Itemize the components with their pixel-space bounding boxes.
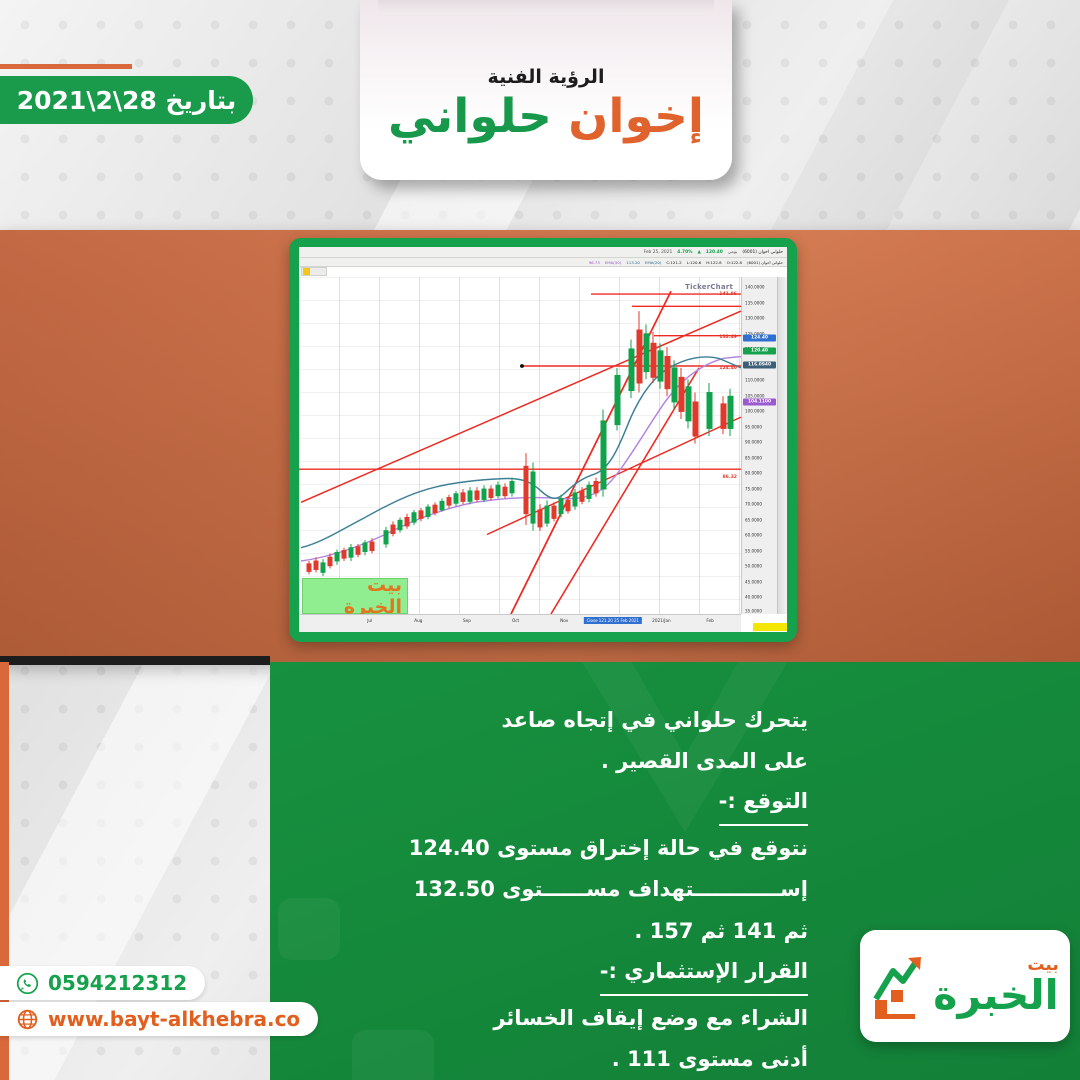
price-badge-resistance: 124.40: [743, 335, 776, 342]
y-tick-18: 50.0000: [745, 564, 762, 569]
x-tick-sep: Sep: [463, 618, 471, 623]
analysis-line-2: على المدى القصير .: [270, 741, 808, 782]
y-tick-9: 95.0000: [745, 424, 762, 429]
date-badge: بتاريخ 28\2\2021: [0, 76, 253, 124]
decision-line-1: الشراء مع وضع إيقاف الخسائر: [270, 998, 808, 1039]
y-tick-16: 60.0000: [745, 533, 762, 538]
price-badge-ema50: 104.1100: [743, 399, 776, 406]
chart-frame: حلواني اخوان (6001) يومي 120.40 ▲ 4.70% …: [289, 238, 797, 642]
x-tick-jan: 2021/Jan: [652, 618, 671, 623]
title-word-orange: إخوان: [568, 89, 704, 144]
x-tick-feb: Feb: [706, 618, 713, 623]
chart-quote-bar: حلواني اخوان (6001) يومي 120.40 ▲ 4.70% …: [299, 247, 787, 258]
website-contact-pill[interactable]: www.bayt-alkhebra.co: [0, 1002, 318, 1036]
quote-symbol: حلواني اخوان (6001): [742, 250, 783, 255]
y-tick-6: 110.0000: [745, 378, 765, 383]
decision-line-2: أدنى مستوى 111 .: [270, 1039, 808, 1080]
x-tick-nov: Nov: [560, 618, 568, 623]
decision-heading-wrap: القرار الإستثماري :-: [270, 952, 808, 998]
ema20-value: 113.20: [626, 260, 640, 265]
quote-arrow-up-icon: ▲: [698, 250, 701, 255]
whatsapp-number: 0594212312: [48, 971, 187, 995]
y-tick-10: 90.0000: [745, 440, 762, 445]
decision-heading: القرار الإستثماري :-: [600, 952, 808, 996]
time-axis-close-badge: Close 121.20 25 Feb 2021: [584, 617, 642, 624]
ema20-label: EMA(20): [645, 260, 661, 265]
price-label-86: 86.32: [722, 475, 737, 480]
x-tick-oct: Oct: [512, 618, 519, 623]
tickerchart-watermark: TickerChart: [685, 283, 733, 291]
brand-logo-card[interactable]: بيت الخبرة: [860, 930, 1070, 1042]
chart-ohlc-bar: حلواني اخوان (6001) O:122.8 H:122.8 L:12…: [299, 258, 787, 267]
chart-toolbar[interactable]: [301, 267, 327, 276]
price-badge-ema20: 116.0940: [743, 361, 776, 368]
ema50-value: 96.73: [589, 260, 600, 265]
x-tick-jul: Jul: [367, 618, 372, 623]
title-subtitle: الرؤية الفنية: [488, 66, 605, 88]
footer-dark-strip: [0, 656, 270, 665]
ohlc-open: O:122.8: [727, 260, 742, 265]
ohlc-close: C:121.2: [666, 260, 681, 265]
y-tick-17: 55.0000: [745, 548, 762, 553]
chart-vertical-scrollbar[interactable]: [777, 277, 787, 614]
y-tick-13: 75.0000: [745, 486, 762, 491]
ema50-label: EMA(50): [605, 260, 621, 265]
time-axis-highlight: [753, 623, 787, 631]
chart-price-axis[interactable]: 140.0000 135.0000 130.0000 125.0000 120.…: [741, 277, 777, 614]
forecast-line-2: إســــــــــــتهداف مســــــتوى 132.50: [270, 869, 808, 910]
y-tick-0: 140.0000: [745, 285, 765, 290]
whatsapp-icon: [16, 972, 39, 995]
quote-date: Feb 25, 2021: [644, 250, 673, 255]
ohlc-high: H:122.8: [706, 260, 721, 265]
y-tick-20: 40.0000: [745, 595, 762, 600]
y-tick-1: 135.0000: [745, 300, 765, 305]
alert-icon[interactable]: [303, 268, 310, 275]
x-tick-aug: Aug: [414, 618, 422, 623]
title-card: الرؤية الفنية إخوان حلواني: [360, 0, 732, 180]
price-label-124: 124.40: [719, 366, 737, 371]
whatsapp-contact-pill[interactable]: 0594212312: [0, 966, 205, 1000]
price-label-132: 132.49: [719, 335, 737, 340]
date-accent-rule: [0, 64, 132, 69]
y-tick-14: 70.0000: [745, 502, 762, 507]
price-label-141: 141.96: [719, 292, 737, 297]
website-url: www.bayt-alkhebra.co: [48, 1007, 300, 1031]
y-tick-8: 100.0000: [745, 409, 765, 414]
chart-time-axis[interactable]: Jul Aug Sep Oct Nov Dec 2021/Jan Feb Clo…: [299, 614, 741, 632]
logo-wordmark: بيت الخبرة: [933, 957, 1058, 1016]
page-title: إخوان حلواني: [388, 92, 704, 141]
growth-arrow-house-icon: [871, 953, 929, 1019]
quote-price: 120.40: [706, 250, 723, 255]
globe-icon: [16, 1008, 39, 1031]
forecast-line-3: ثم 141 ثم 157 .: [270, 911, 808, 952]
candlestick-series: [307, 311, 733, 576]
trendline-inner: [551, 368, 699, 614]
analysis-line-1: يتحرك حلواني في إتجاه صاعد: [270, 700, 808, 741]
chart-svg: [299, 277, 741, 614]
bayt-alkhebra-watermark: بيت الخبرة: [302, 578, 408, 614]
logo-main-word: الخبرة: [933, 975, 1058, 1016]
y-tick-12: 80.0000: [745, 471, 762, 476]
forecast-line-1: نتوقع في حالة إختراق مستوى 124.40: [270, 828, 808, 869]
price-badge-last: 120.40: [743, 348, 776, 355]
chart-screenshot: حلواني اخوان (6001) يومي 120.40 ▲ 4.70% …: [299, 247, 787, 632]
y-tick-15: 65.0000: [745, 517, 762, 522]
title-word-green: حلواني: [388, 89, 552, 144]
chart-plot-area[interactable]: 141.96 132.49 124.40 86.32: [299, 277, 741, 614]
forecast-heading-wrap: التوقع :-: [270, 782, 808, 828]
y-tick-19: 45.0000: [745, 579, 762, 584]
quote-interval: يومي: [728, 250, 738, 255]
ohlc-low: L:120.6: [687, 260, 702, 265]
forecast-heading: التوقع :-: [719, 782, 808, 826]
y-tick-11: 85.0000: [745, 455, 762, 460]
y-tick-21: 35.0000: [745, 609, 762, 614]
quote-change: 4.70%: [677, 250, 692, 255]
ohlc-symbol: حلواني اخوان (6001): [747, 260, 783, 265]
y-tick-2: 130.0000: [745, 316, 765, 321]
